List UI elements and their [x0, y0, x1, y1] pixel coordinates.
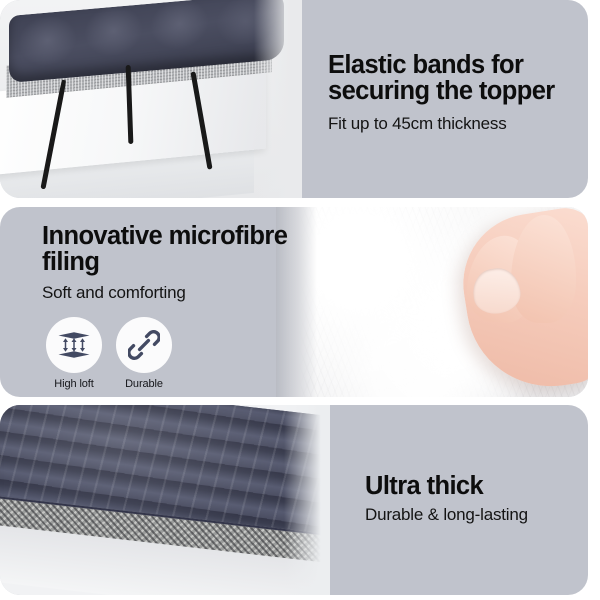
badge-label: Durable — [116, 378, 172, 390]
chain-link-icon — [128, 329, 160, 361]
panel-headline: Ultra thick — [365, 473, 580, 499]
panel-subline: Fit up to 45cm thickness — [328, 114, 578, 134]
elastic-bands-text-block: Elastic bands for securing the topper Fi… — [328, 52, 578, 133]
ultra-thick-text-block: Ultra thick Durable & long-lasting — [365, 473, 580, 525]
feature-badge-high-loft: High loft — [46, 317, 102, 390]
photo-edge-fade — [284, 405, 330, 595]
badge-circle — [116, 317, 172, 373]
panel-microfibre-filling: Innovative microfibre filing Soft and co… — [0, 207, 588, 397]
infographic-board: Elastic bands for securing the topper Fi… — [0, 0, 600, 600]
panel-subline: Soft and comforting — [42, 283, 292, 303]
badge-circle — [46, 317, 102, 373]
photo-edge-fade — [254, 0, 302, 198]
mattress-topper-with-elastic-straps-photo — [0, 0, 302, 198]
quilted-topper-illustration — [0, 405, 330, 595]
badge-label: High loft — [46, 378, 102, 390]
microfibre-text-block: Innovative microfibre filing Soft and co… — [42, 223, 292, 302]
topper-on-mattress-illustration — [0, 0, 302, 198]
feature-badge-durable: Durable — [116, 317, 172, 390]
panel-subline: Durable & long-lasting — [365, 505, 580, 525]
panel-elastic-bands: Elastic bands for securing the topper Fi… — [0, 0, 588, 198]
high-loft-icon — [57, 328, 91, 362]
panel-headline: Elastic bands for securing the topper — [328, 52, 578, 105]
microfibre-filling-hand-photo — [276, 207, 588, 397]
panel-headline: Innovative microfibre filing — [42, 223, 292, 276]
feature-badge-group: High loft Durable — [46, 317, 172, 390]
panel-ultra-thick: Ultra thick Durable & long-lasting — [0, 405, 588, 595]
finger — [510, 215, 576, 324]
quilted-topper-side-profile-photo — [0, 405, 330, 595]
microfibre-illustration — [276, 207, 588, 397]
